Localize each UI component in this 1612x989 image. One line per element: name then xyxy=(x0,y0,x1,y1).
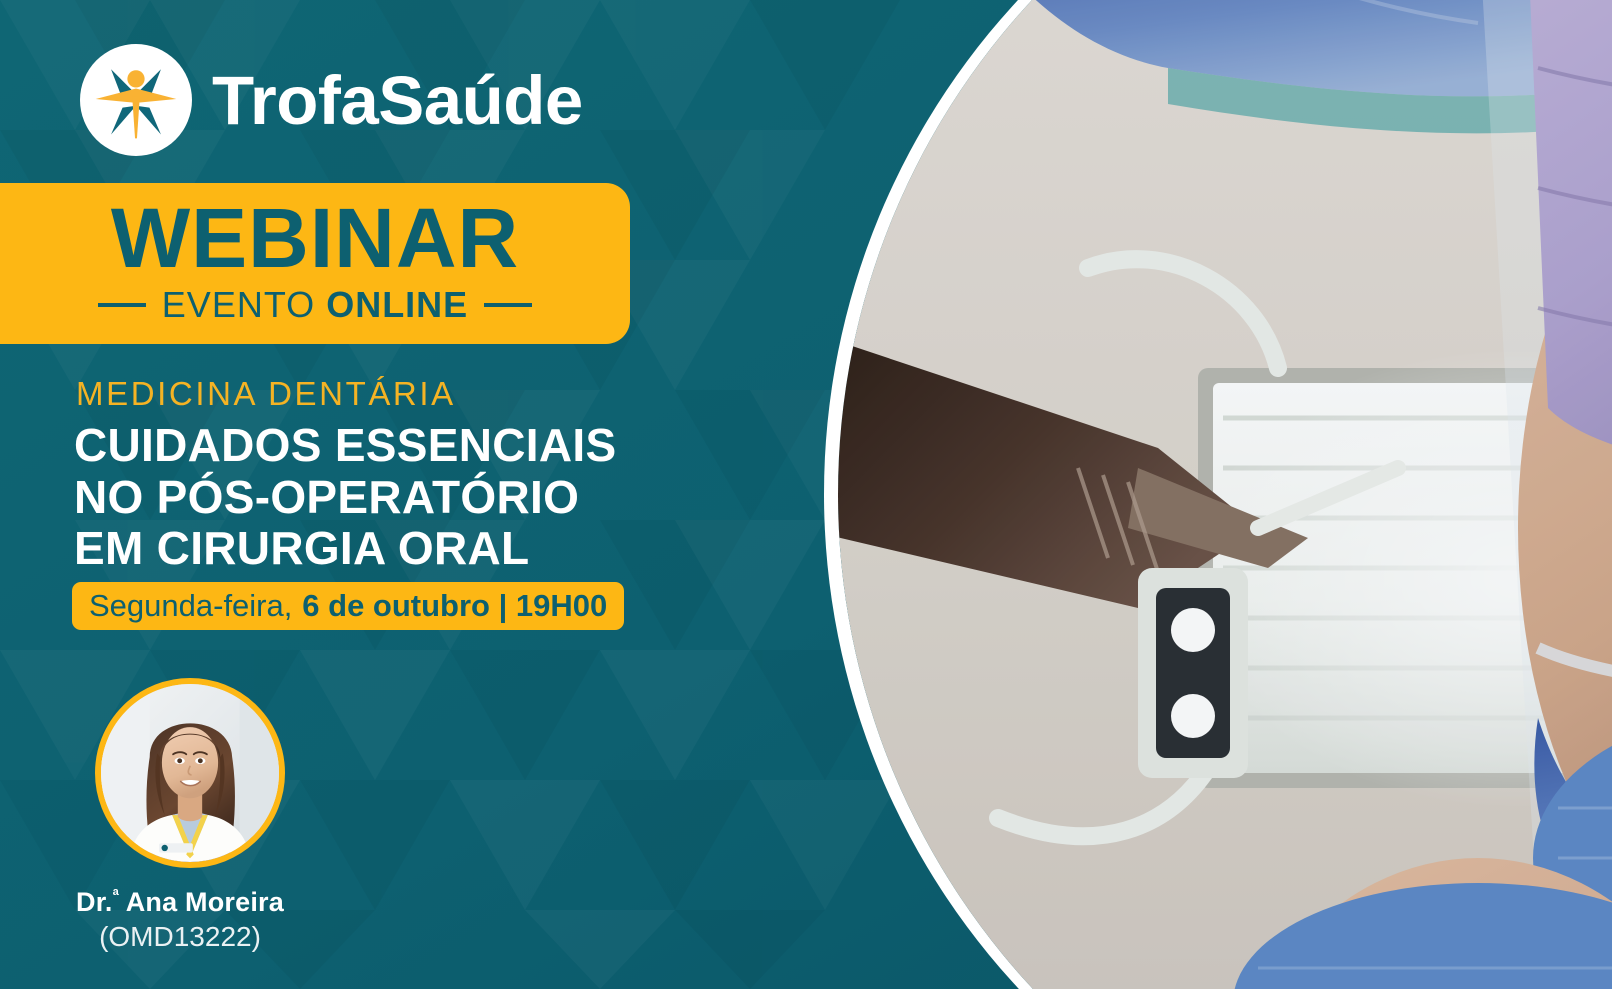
date-badge: Segunda-feira, 6 de outubro | 19H00 xyxy=(72,582,624,630)
rule-right xyxy=(484,303,532,307)
headline-line-3: EM CIRURGIA ORAL xyxy=(74,523,616,575)
speaker-name: Dr.ª Ana Moreira xyxy=(0,886,360,918)
speaker-avatar xyxy=(95,678,285,868)
rule-left xyxy=(98,303,146,307)
webinar-subtitle: EVENTO ONLINE xyxy=(98,284,532,326)
speaker-portrait xyxy=(101,684,279,862)
headline-line-1: CUIDADOS ESSENCIAIS xyxy=(74,420,616,472)
speaker-name-text: Ana Moreira xyxy=(119,887,284,917)
event-type-light: EVENTO xyxy=(162,284,315,325)
session-headline: CUIDADOS ESSENCIAIS NO PÓS-OPERATÓRIO EM… xyxy=(74,420,616,575)
brand-logo: TrofaSaúde xyxy=(80,44,583,156)
webinar-title: WEBINAR xyxy=(111,197,519,279)
hero-photo-disc xyxy=(838,0,1612,989)
headline-line-2: NO PÓS-OPERATÓRIO xyxy=(74,472,616,524)
dental-surgery-photo xyxy=(838,0,1612,989)
webinar-banner: WEBINAR EVENTO ONLINE xyxy=(0,183,630,344)
starburst-person-icon xyxy=(80,44,192,156)
event-type-bold: ONLINE xyxy=(326,284,468,325)
webinar-poster: TrofaSaúde WEBINAR EVENTO ONLINE MEDICIN… xyxy=(0,0,1612,989)
brand-name: TrofaSaúde xyxy=(212,66,583,135)
speaker-registration: (OMD13222) xyxy=(0,921,360,953)
speaker-name-prefix: Dr. xyxy=(76,887,113,917)
date-weekday: Segunda-feira, xyxy=(89,588,292,624)
date-detail: 6 de outubro | 19H00 xyxy=(302,588,607,624)
specialty-kicker: MEDICINA DENTÁRIA xyxy=(76,375,456,413)
